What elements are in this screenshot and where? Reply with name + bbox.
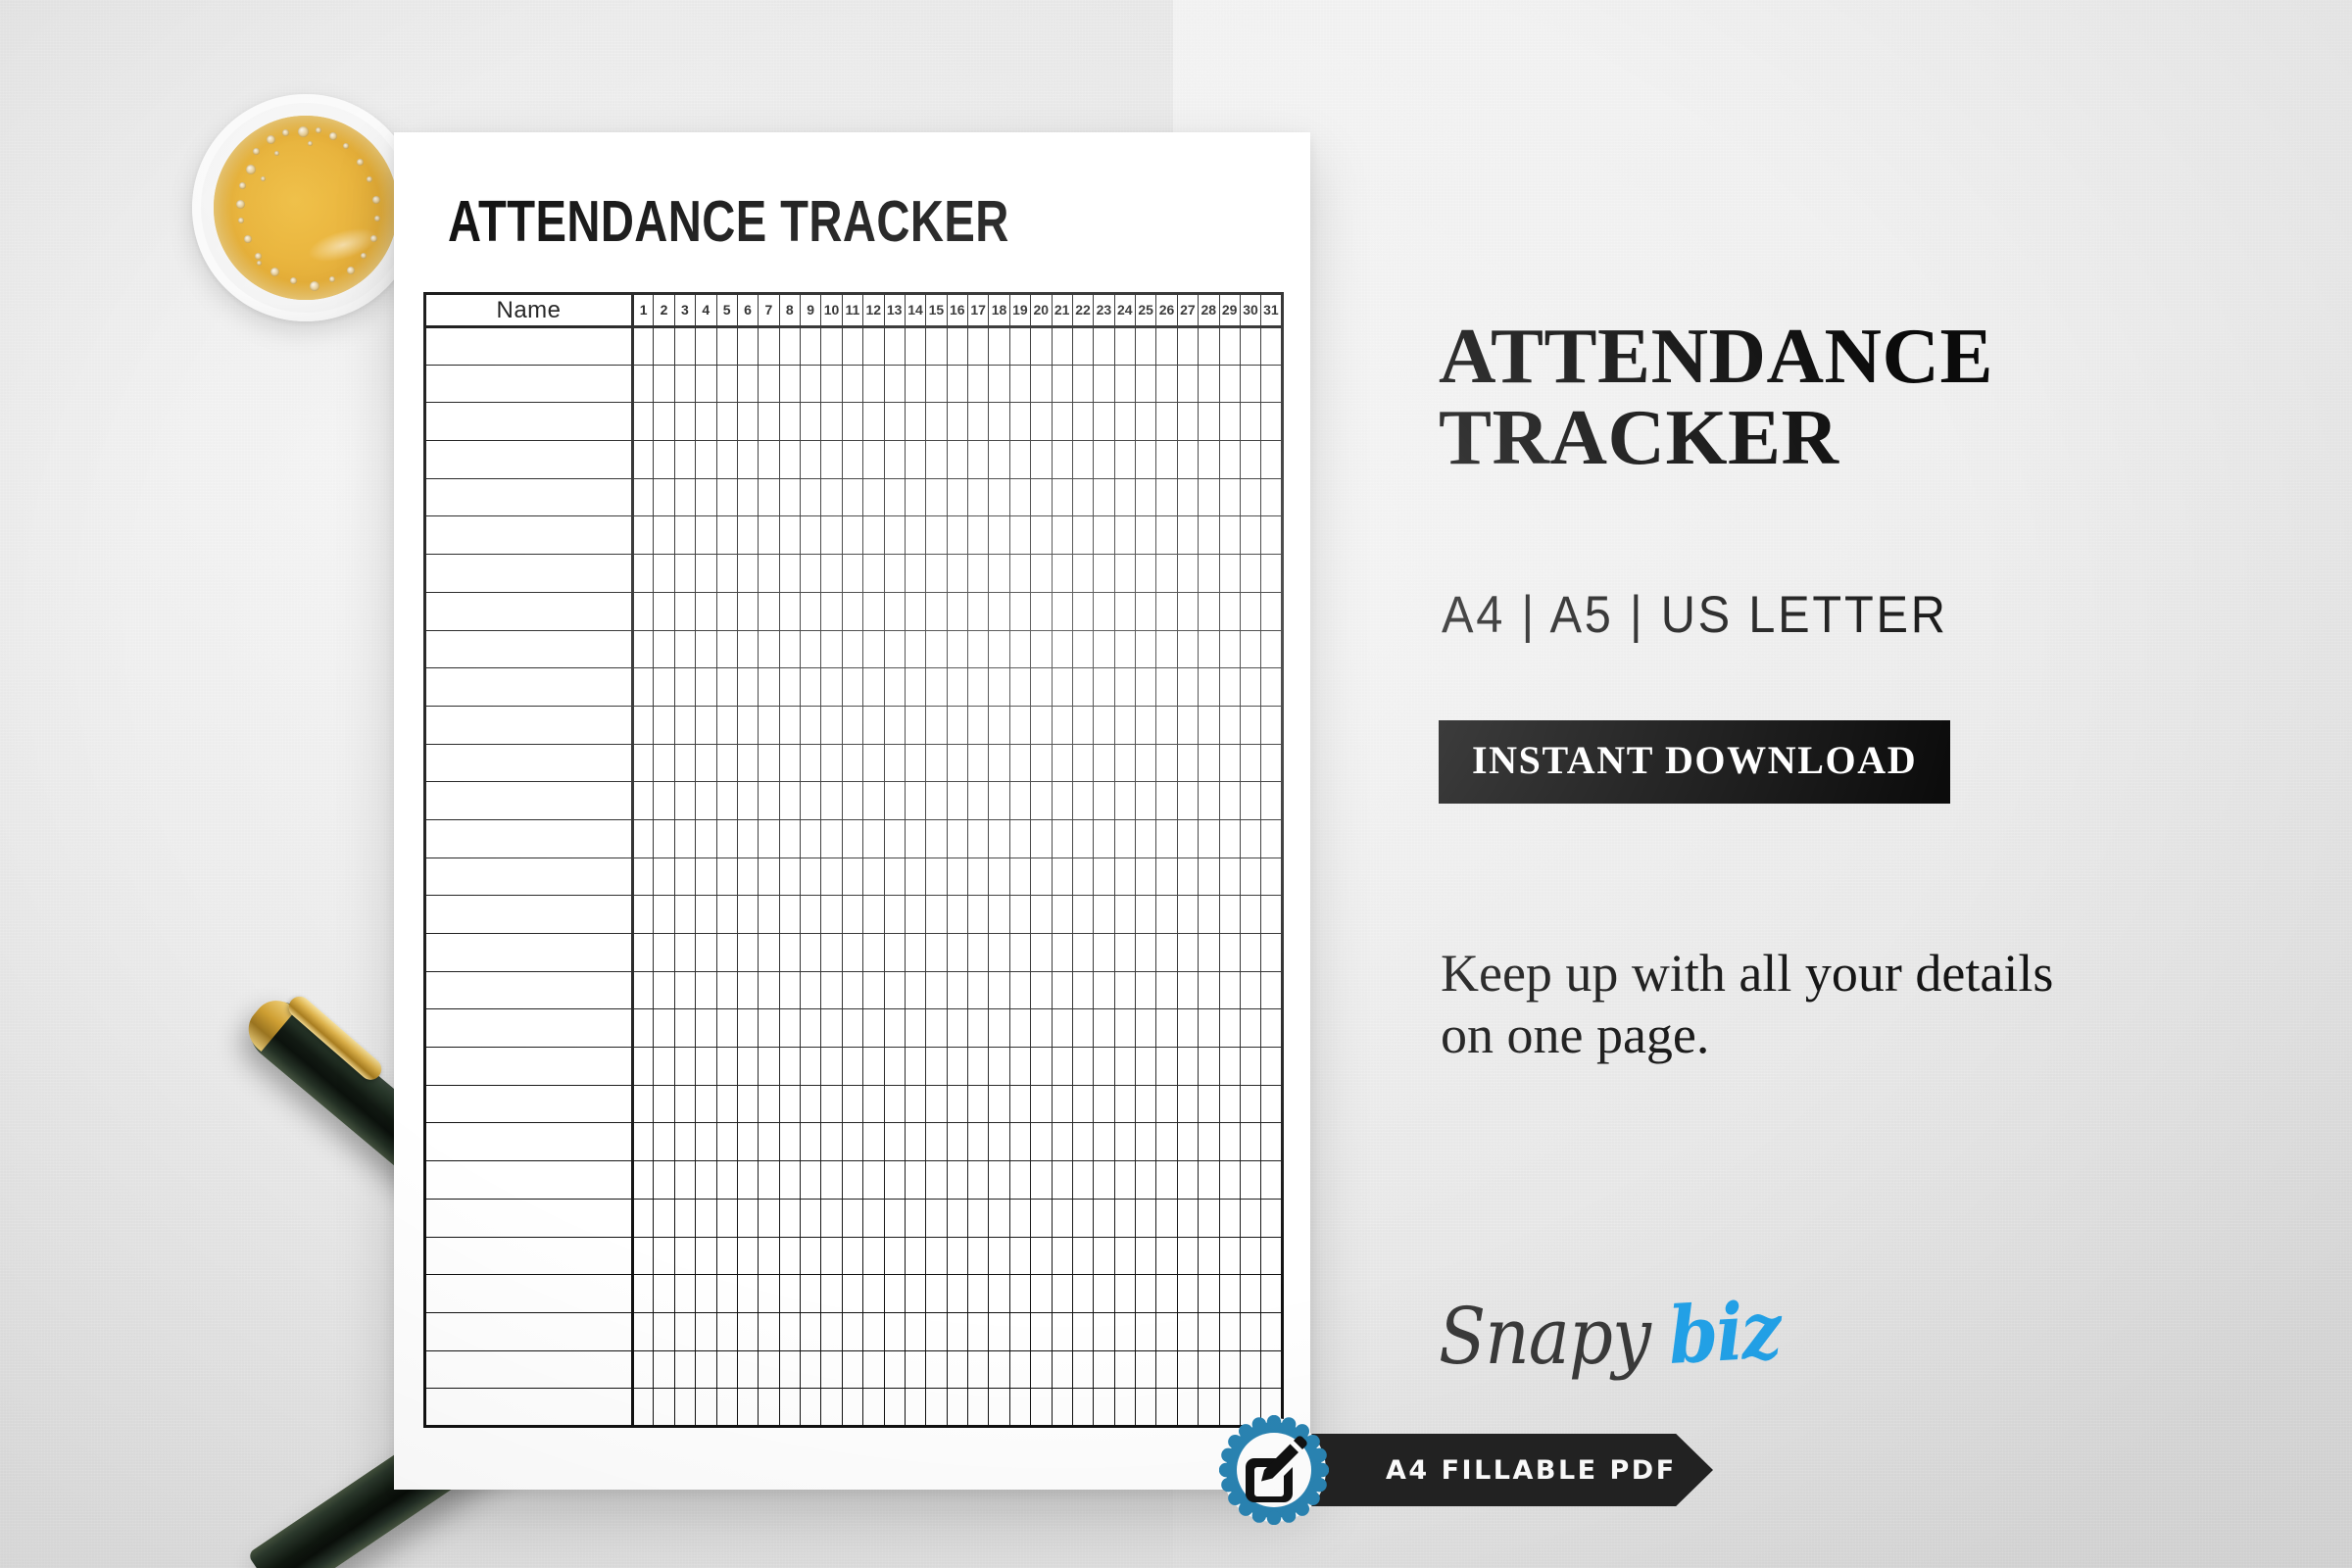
cell-day-18[interactable]: [989, 630, 1009, 668]
cell-day-30[interactable]: [1240, 441, 1260, 479]
cell-day-20[interactable]: [1031, 1123, 1052, 1161]
cell-day-9[interactable]: [801, 516, 821, 555]
cell-day-22[interactable]: [1072, 1123, 1093, 1161]
cell-day-31[interactable]: [1261, 1275, 1282, 1313]
cell-day-28[interactable]: [1199, 478, 1219, 516]
cell-day-21[interactable]: [1052, 1350, 1072, 1389]
cell-day-15[interactable]: [926, 478, 947, 516]
cell-day-21[interactable]: [1052, 1275, 1072, 1313]
cell-day-8[interactable]: [779, 934, 800, 972]
cell-day-24[interactable]: [1114, 857, 1135, 896]
cell-day-4[interactable]: [696, 592, 716, 630]
cell-day-15[interactable]: [926, 327, 947, 366]
cell-day-16[interactable]: [947, 1312, 967, 1350]
cell-day-14[interactable]: [905, 555, 925, 593]
cell-day-11[interactable]: [842, 327, 862, 366]
cell-day-31[interactable]: [1261, 896, 1282, 934]
cell-day-2[interactable]: [654, 1048, 674, 1086]
cell-day-31[interactable]: [1261, 403, 1282, 441]
cell-day-25[interactable]: [1136, 1048, 1156, 1086]
cell-day-8[interactable]: [779, 365, 800, 403]
cell-day-29[interactable]: [1219, 744, 1240, 782]
cell-day-17[interactable]: [968, 934, 989, 972]
cell-day-18[interactable]: [989, 857, 1009, 896]
cell-day-11[interactable]: [842, 592, 862, 630]
cell-day-22[interactable]: [1072, 744, 1093, 782]
cell-day-12[interactable]: [863, 441, 884, 479]
cell-day-8[interactable]: [779, 327, 800, 366]
cell-day-3[interactable]: [674, 782, 695, 820]
cell-day-7[interactable]: [759, 441, 779, 479]
cell-day-5[interactable]: [716, 1350, 737, 1389]
cell-day-14[interactable]: [905, 971, 925, 1009]
cell-day-10[interactable]: [821, 327, 842, 366]
cell-day-17[interactable]: [968, 706, 989, 744]
cell-day-28[interactable]: [1199, 365, 1219, 403]
cell-day-17[interactable]: [968, 1085, 989, 1123]
cell-day-23[interactable]: [1094, 592, 1114, 630]
cell-day-16[interactable]: [947, 857, 967, 896]
cell-day-6[interactable]: [737, 744, 758, 782]
cell-day-23[interactable]: [1094, 1085, 1114, 1123]
cell-day-29[interactable]: [1219, 782, 1240, 820]
cell-day-24[interactable]: [1114, 1161, 1135, 1200]
cell-day-14[interactable]: [905, 1085, 925, 1123]
cell-day-10[interactable]: [821, 403, 842, 441]
cell-day-14[interactable]: [905, 1389, 925, 1427]
cell-day-27[interactable]: [1177, 555, 1198, 593]
cell-day-21[interactable]: [1052, 744, 1072, 782]
cell-day-22[interactable]: [1072, 1161, 1093, 1200]
cell-name-input[interactable]: [425, 630, 633, 668]
cell-day-21[interactable]: [1052, 1199, 1072, 1237]
cell-day-20[interactable]: [1031, 706, 1052, 744]
cell-day-15[interactable]: [926, 555, 947, 593]
cell-day-1[interactable]: [633, 516, 654, 555]
cell-day-21[interactable]: [1052, 819, 1072, 857]
cell-day-12[interactable]: [863, 1350, 884, 1389]
cell-day-13[interactable]: [884, 1350, 905, 1389]
cell-day-8[interactable]: [779, 1009, 800, 1048]
cell-day-4[interactable]: [696, 403, 716, 441]
cell-day-29[interactable]: [1219, 403, 1240, 441]
cell-day-21[interactable]: [1052, 516, 1072, 555]
cell-day-15[interactable]: [926, 1085, 947, 1123]
cell-day-3[interactable]: [674, 1161, 695, 1200]
cell-day-24[interactable]: [1114, 819, 1135, 857]
cell-day-27[interactable]: [1177, 1009, 1198, 1048]
cell-day-18[interactable]: [989, 668, 1009, 707]
cell-day-29[interactable]: [1219, 1275, 1240, 1313]
cell-day-30[interactable]: [1240, 857, 1260, 896]
cell-day-25[interactable]: [1136, 1009, 1156, 1048]
cell-name-input[interactable]: [425, 1009, 633, 1048]
cell-day-21[interactable]: [1052, 1085, 1072, 1123]
cell-day-1[interactable]: [633, 744, 654, 782]
cell-day-21[interactable]: [1052, 478, 1072, 516]
cell-day-9[interactable]: [801, 782, 821, 820]
cell-name-input[interactable]: [425, 1048, 633, 1086]
cell-day-1[interactable]: [633, 441, 654, 479]
cell-day-28[interactable]: [1199, 516, 1219, 555]
cell-day-30[interactable]: [1240, 1085, 1260, 1123]
cell-day-22[interactable]: [1072, 516, 1093, 555]
cell-day-1[interactable]: [633, 1275, 654, 1313]
cell-day-11[interactable]: [842, 630, 862, 668]
cell-day-26[interactable]: [1156, 1312, 1177, 1350]
cell-day-18[interactable]: [989, 934, 1009, 972]
cell-day-5[interactable]: [716, 1161, 737, 1200]
cell-day-30[interactable]: [1240, 819, 1260, 857]
cell-day-18[interactable]: [989, 1312, 1009, 1350]
cell-day-18[interactable]: [989, 403, 1009, 441]
cell-day-3[interactable]: [674, 365, 695, 403]
cell-day-18[interactable]: [989, 555, 1009, 593]
cell-day-31[interactable]: [1261, 1237, 1282, 1275]
cell-day-18[interactable]: [989, 365, 1009, 403]
cell-day-28[interactable]: [1199, 857, 1219, 896]
cell-day-22[interactable]: [1072, 1275, 1093, 1313]
cell-day-21[interactable]: [1052, 630, 1072, 668]
cell-day-20[interactable]: [1031, 1048, 1052, 1086]
cell-day-27[interactable]: [1177, 441, 1198, 479]
cell-day-21[interactable]: [1052, 327, 1072, 366]
cell-name-input[interactable]: [425, 403, 633, 441]
cell-day-19[interactable]: [1009, 630, 1030, 668]
cell-day-30[interactable]: [1240, 896, 1260, 934]
cell-day-23[interactable]: [1094, 441, 1114, 479]
cell-day-17[interactable]: [968, 1312, 989, 1350]
cell-day-8[interactable]: [779, 782, 800, 820]
cell-day-26[interactable]: [1156, 1199, 1177, 1237]
cell-day-4[interactable]: [696, 857, 716, 896]
cell-day-30[interactable]: [1240, 327, 1260, 366]
cell-day-23[interactable]: [1094, 555, 1114, 593]
cell-day-20[interactable]: [1031, 1161, 1052, 1200]
cell-day-21[interactable]: [1052, 668, 1072, 707]
cell-day-19[interactable]: [1009, 1085, 1030, 1123]
cell-day-16[interactable]: [947, 819, 967, 857]
cell-day-20[interactable]: [1031, 744, 1052, 782]
cell-day-9[interactable]: [801, 1199, 821, 1237]
cell-day-10[interactable]: [821, 630, 842, 668]
cell-day-27[interactable]: [1177, 744, 1198, 782]
cell-day-4[interactable]: [696, 441, 716, 479]
cell-day-22[interactable]: [1072, 478, 1093, 516]
cell-day-9[interactable]: [801, 478, 821, 516]
cell-day-31[interactable]: [1261, 819, 1282, 857]
cell-day-16[interactable]: [947, 1048, 967, 1086]
cell-day-24[interactable]: [1114, 1199, 1135, 1237]
cell-day-14[interactable]: [905, 668, 925, 707]
cell-day-25[interactable]: [1136, 744, 1156, 782]
cell-day-15[interactable]: [926, 706, 947, 744]
cell-day-7[interactable]: [759, 668, 779, 707]
cell-day-19[interactable]: [1009, 478, 1030, 516]
cell-day-26[interactable]: [1156, 934, 1177, 972]
cell-day-26[interactable]: [1156, 1389, 1177, 1427]
cell-day-31[interactable]: [1261, 744, 1282, 782]
cell-day-2[interactable]: [654, 592, 674, 630]
cell-day-25[interactable]: [1136, 857, 1156, 896]
cell-day-7[interactable]: [759, 971, 779, 1009]
cell-day-15[interactable]: [926, 744, 947, 782]
cell-day-26[interactable]: [1156, 971, 1177, 1009]
cell-day-26[interactable]: [1156, 1123, 1177, 1161]
cell-day-9[interactable]: [801, 744, 821, 782]
cell-day-29[interactable]: [1219, 365, 1240, 403]
cell-day-13[interactable]: [884, 744, 905, 782]
cell-day-1[interactable]: [633, 896, 654, 934]
cell-day-16[interactable]: [947, 934, 967, 972]
cell-day-21[interactable]: [1052, 1161, 1072, 1200]
cell-day-28[interactable]: [1199, 1350, 1219, 1389]
cell-day-14[interactable]: [905, 1237, 925, 1275]
cell-day-5[interactable]: [716, 1123, 737, 1161]
cell-day-12[interactable]: [863, 365, 884, 403]
cell-day-6[interactable]: [737, 1199, 758, 1237]
cell-day-5[interactable]: [716, 1275, 737, 1313]
cell-day-17[interactable]: [968, 782, 989, 820]
cell-day-27[interactable]: [1177, 1085, 1198, 1123]
cell-day-1[interactable]: [633, 819, 654, 857]
cell-day-17[interactable]: [968, 478, 989, 516]
cell-day-14[interactable]: [905, 365, 925, 403]
cell-day-12[interactable]: [863, 1085, 884, 1123]
cell-day-16[interactable]: [947, 782, 967, 820]
cell-day-3[interactable]: [674, 1199, 695, 1237]
cell-day-13[interactable]: [884, 1199, 905, 1237]
cell-day-23[interactable]: [1094, 327, 1114, 366]
cell-day-1[interactable]: [633, 555, 654, 593]
cell-day-3[interactable]: [674, 857, 695, 896]
cell-day-25[interactable]: [1136, 1237, 1156, 1275]
cell-day-18[interactable]: [989, 441, 1009, 479]
cell-day-19[interactable]: [1009, 1161, 1030, 1200]
cell-day-13[interactable]: [884, 630, 905, 668]
cell-day-10[interactable]: [821, 1275, 842, 1313]
cell-day-12[interactable]: [863, 1161, 884, 1200]
cell-day-5[interactable]: [716, 706, 737, 744]
cell-day-17[interactable]: [968, 592, 989, 630]
cell-day-2[interactable]: [654, 403, 674, 441]
cell-day-7[interactable]: [759, 782, 779, 820]
cell-day-28[interactable]: [1199, 1085, 1219, 1123]
cell-day-17[interactable]: [968, 1048, 989, 1086]
cell-day-16[interactable]: [947, 1389, 967, 1427]
cell-day-24[interactable]: [1114, 1275, 1135, 1313]
cell-day-11[interactable]: [842, 971, 862, 1009]
cell-day-5[interactable]: [716, 555, 737, 593]
cell-day-10[interactable]: [821, 555, 842, 593]
cell-day-18[interactable]: [989, 1350, 1009, 1389]
cell-day-14[interactable]: [905, 857, 925, 896]
cell-day-22[interactable]: [1072, 819, 1093, 857]
cell-day-16[interactable]: [947, 1123, 967, 1161]
cell-day-22[interactable]: [1072, 1350, 1093, 1389]
cell-day-19[interactable]: [1009, 1312, 1030, 1350]
cell-day-29[interactable]: [1219, 896, 1240, 934]
cell-day-3[interactable]: [674, 971, 695, 1009]
cell-day-15[interactable]: [926, 516, 947, 555]
cell-day-17[interactable]: [968, 365, 989, 403]
cell-day-6[interactable]: [737, 1389, 758, 1427]
cell-day-24[interactable]: [1114, 327, 1135, 366]
cell-day-8[interactable]: [779, 1161, 800, 1200]
cell-day-4[interactable]: [696, 782, 716, 820]
cell-day-28[interactable]: [1199, 1199, 1219, 1237]
cell-day-25[interactable]: [1136, 934, 1156, 972]
cell-day-4[interactable]: [696, 1161, 716, 1200]
cell-day-16[interactable]: [947, 478, 967, 516]
cell-day-8[interactable]: [779, 1275, 800, 1313]
cell-day-8[interactable]: [779, 896, 800, 934]
cell-day-8[interactable]: [779, 516, 800, 555]
cell-day-25[interactable]: [1136, 1085, 1156, 1123]
cell-day-26[interactable]: [1156, 668, 1177, 707]
cell-day-14[interactable]: [905, 1123, 925, 1161]
cell-day-28[interactable]: [1199, 896, 1219, 934]
cell-day-6[interactable]: [737, 1048, 758, 1086]
cell-day-31[interactable]: [1261, 934, 1282, 972]
cell-day-29[interactable]: [1219, 1048, 1240, 1086]
cell-day-11[interactable]: [842, 1009, 862, 1048]
cell-day-7[interactable]: [759, 706, 779, 744]
cell-day-31[interactable]: [1261, 1312, 1282, 1350]
cell-day-25[interactable]: [1136, 327, 1156, 366]
cell-day-9[interactable]: [801, 1085, 821, 1123]
cell-day-13[interactable]: [884, 403, 905, 441]
cell-day-21[interactable]: [1052, 706, 1072, 744]
cell-day-5[interactable]: [716, 441, 737, 479]
cell-name-input[interactable]: [425, 896, 633, 934]
cell-day-14[interactable]: [905, 1275, 925, 1313]
cell-day-27[interactable]: [1177, 706, 1198, 744]
cell-day-7[interactable]: [759, 1123, 779, 1161]
cell-day-25[interactable]: [1136, 441, 1156, 479]
cell-day-19[interactable]: [1009, 668, 1030, 707]
cell-day-8[interactable]: [779, 1199, 800, 1237]
cell-day-31[interactable]: [1261, 365, 1282, 403]
cell-day-3[interactable]: [674, 1009, 695, 1048]
cell-day-13[interactable]: [884, 971, 905, 1009]
cell-day-14[interactable]: [905, 1161, 925, 1200]
cell-day-18[interactable]: [989, 478, 1009, 516]
cell-day-2[interactable]: [654, 478, 674, 516]
cell-day-30[interactable]: [1240, 744, 1260, 782]
cell-day-15[interactable]: [926, 403, 947, 441]
cell-day-3[interactable]: [674, 441, 695, 479]
cell-day-30[interactable]: [1240, 1237, 1260, 1275]
cell-day-31[interactable]: [1261, 478, 1282, 516]
cell-day-22[interactable]: [1072, 441, 1093, 479]
cell-day-19[interactable]: [1009, 782, 1030, 820]
cell-day-4[interactable]: [696, 668, 716, 707]
cell-day-23[interactable]: [1094, 478, 1114, 516]
cell-day-29[interactable]: [1219, 1237, 1240, 1275]
cell-day-10[interactable]: [821, 782, 842, 820]
cell-name-input[interactable]: [425, 327, 633, 366]
cell-day-20[interactable]: [1031, 896, 1052, 934]
cell-day-22[interactable]: [1072, 1009, 1093, 1048]
cell-name-input[interactable]: [425, 668, 633, 707]
cell-day-25[interactable]: [1136, 630, 1156, 668]
cell-day-27[interactable]: [1177, 782, 1198, 820]
cell-day-24[interactable]: [1114, 365, 1135, 403]
cell-day-13[interactable]: [884, 365, 905, 403]
cell-day-18[interactable]: [989, 327, 1009, 366]
cell-day-8[interactable]: [779, 555, 800, 593]
cell-day-15[interactable]: [926, 1350, 947, 1389]
cell-day-30[interactable]: [1240, 706, 1260, 744]
cell-day-22[interactable]: [1072, 327, 1093, 366]
cell-day-7[interactable]: [759, 365, 779, 403]
cell-day-24[interactable]: [1114, 1123, 1135, 1161]
cell-day-4[interactable]: [696, 1389, 716, 1427]
cell-day-17[interactable]: [968, 1275, 989, 1313]
cell-day-4[interactable]: [696, 934, 716, 972]
cell-day-11[interactable]: [842, 555, 862, 593]
cell-day-12[interactable]: [863, 327, 884, 366]
cell-day-15[interactable]: [926, 782, 947, 820]
cell-day-25[interactable]: [1136, 971, 1156, 1009]
cell-day-3[interactable]: [674, 516, 695, 555]
cell-day-21[interactable]: [1052, 1048, 1072, 1086]
cell-day-25[interactable]: [1136, 782, 1156, 820]
cell-day-20[interactable]: [1031, 934, 1052, 972]
cell-day-1[interactable]: [633, 934, 654, 972]
cell-day-9[interactable]: [801, 1237, 821, 1275]
cell-name-input[interactable]: [425, 744, 633, 782]
cell-day-27[interactable]: [1177, 478, 1198, 516]
cell-day-15[interactable]: [926, 365, 947, 403]
cell-day-22[interactable]: [1072, 365, 1093, 403]
cell-day-17[interactable]: [968, 971, 989, 1009]
cell-day-22[interactable]: [1072, 896, 1093, 934]
cell-day-13[interactable]: [884, 896, 905, 934]
cell-day-4[interactable]: [696, 744, 716, 782]
cell-day-9[interactable]: [801, 1275, 821, 1313]
cell-day-22[interactable]: [1072, 1048, 1093, 1086]
cell-day-29[interactable]: [1219, 1161, 1240, 1200]
cell-day-2[interactable]: [654, 1009, 674, 1048]
cell-day-22[interactable]: [1072, 592, 1093, 630]
cell-day-31[interactable]: [1261, 857, 1282, 896]
cell-day-10[interactable]: [821, 971, 842, 1009]
cell-day-19[interactable]: [1009, 327, 1030, 366]
cell-day-11[interactable]: [842, 782, 862, 820]
cell-day-1[interactable]: [633, 971, 654, 1009]
cell-day-19[interactable]: [1009, 1389, 1030, 1427]
cell-day-17[interactable]: [968, 819, 989, 857]
cell-day-3[interactable]: [674, 1275, 695, 1313]
cell-day-30[interactable]: [1240, 971, 1260, 1009]
cell-day-8[interactable]: [779, 1237, 800, 1275]
cell-day-16[interactable]: [947, 668, 967, 707]
cell-day-10[interactable]: [821, 1237, 842, 1275]
cell-day-15[interactable]: [926, 441, 947, 479]
cell-day-16[interactable]: [947, 1350, 967, 1389]
cell-day-13[interactable]: [884, 1048, 905, 1086]
cell-day-2[interactable]: [654, 1312, 674, 1350]
cell-day-14[interactable]: [905, 441, 925, 479]
cell-day-2[interactable]: [654, 1161, 674, 1200]
cell-day-17[interactable]: [968, 327, 989, 366]
cell-day-21[interactable]: [1052, 365, 1072, 403]
cell-day-28[interactable]: [1199, 1123, 1219, 1161]
cell-day-15[interactable]: [926, 1237, 947, 1275]
cell-day-5[interactable]: [716, 1048, 737, 1086]
